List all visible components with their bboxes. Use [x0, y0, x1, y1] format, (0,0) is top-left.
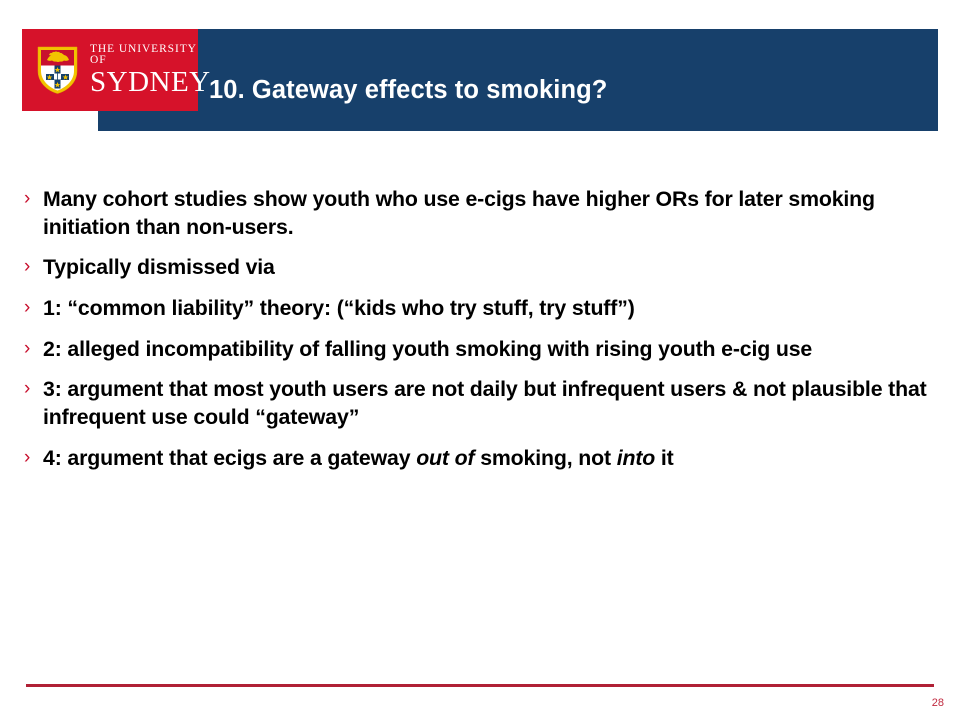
- bullet-text-6: 4: argument that ecigs are a gateway out…: [43, 446, 674, 470]
- bullet-item-4: › 2: alleged incompatibility of falling …: [22, 336, 938, 364]
- bullet-chevron-icon: ›: [24, 377, 30, 402]
- bullet-text-1: Many cohort studies show youth who use e…: [43, 187, 875, 239]
- bullet-item-3: › 1: “common liability” theory: (“kids w…: [22, 295, 938, 323]
- slide-body: › Many cohort studies show youth who use…: [22, 186, 938, 485]
- bullet-text-5: 3: argument that most youth users are no…: [43, 377, 927, 429]
- bullet-chevron-icon: ›: [24, 255, 30, 280]
- bullet-chevron-icon: ›: [24, 187, 30, 212]
- slide-title: 10. Gateway effects to smoking?: [209, 76, 909, 104]
- page-number: 28: [932, 697, 944, 709]
- slide-canvas: THE UNIVERSITY OF SYDNEY 10. Gateway eff…: [0, 0, 960, 720]
- bullet-item-5: › 3: argument that most youth users are …: [22, 376, 938, 431]
- bullet-text-2: Typically dismissed via: [43, 255, 275, 279]
- bullet-text-4: 2: alleged incompatibility of falling yo…: [43, 337, 812, 361]
- wordmark-line-1: THE UNIVERSITY OF: [90, 44, 211, 67]
- footer-divider: [26, 684, 934, 687]
- bullet-text-3: 1: “common liability” theory: (“kids who…: [43, 296, 635, 320]
- bullet-chevron-icon: ›: [24, 446, 30, 471]
- bullet-item-6: › 4: argument that ecigs are a gateway o…: [22, 445, 938, 473]
- bullet-chevron-icon: ›: [24, 296, 30, 321]
- bullet-item-2: › Typically dismissed via: [22, 254, 938, 282]
- bullet-item-1: › Many cohort studies show youth who use…: [22, 186, 938, 241]
- university-crest-icon: [36, 45, 79, 95]
- wordmark-line-2: SYDNEY: [90, 68, 211, 97]
- university-logo: THE UNIVERSITY OF SYDNEY: [22, 29, 198, 111]
- bullet-chevron-icon: ›: [24, 337, 30, 362]
- university-wordmark: THE UNIVERSITY OF SYDNEY: [90, 44, 211, 97]
